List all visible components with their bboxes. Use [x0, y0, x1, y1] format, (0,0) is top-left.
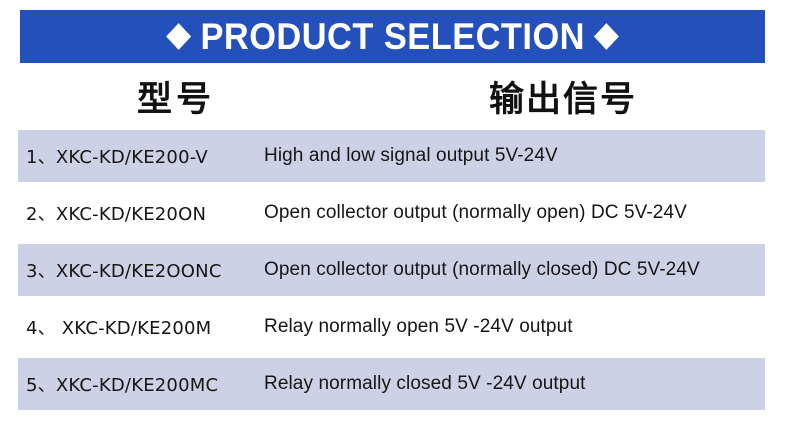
product-selection-page: PRODUCT SELECTION 型号 输出信号 1、XKC-KD/KE200… — [0, 0, 790, 432]
diamond-icon-left — [166, 23, 191, 50]
table-row: 3、XKC-KD/KE2OONC Open collector output (… — [0, 244, 790, 301]
cell-output-signal: Relay normally open 5V -24V output — [264, 301, 573, 353]
column-header-output-signal: 输出信号 — [473, 71, 653, 122]
cell-model: 4、 XKC-KD/KE200M — [26, 301, 211, 353]
cell-model: 3、XKC-KD/KE2OONC — [26, 244, 222, 296]
cell-output-signal: Open collector output (normally open) DC… — [264, 187, 687, 239]
page-header-banner: PRODUCT SELECTION — [20, 10, 765, 63]
cell-output-signal: High and low signal output 5V-24V — [264, 130, 558, 182]
cell-output-signal: Relay normally closed 5V -24V output — [264, 358, 586, 410]
table-row: 2、XKC-KD/KE20ON Open collector output (n… — [0, 187, 790, 244]
product-selection-table: 1、XKC-KD/KE200-V High and low signal out… — [0, 130, 790, 415]
cell-output-signal: Open collector output (normally closed) … — [264, 244, 700, 296]
page-title: PRODUCT SELECTION — [200, 18, 585, 55]
column-header-model: 型号 — [130, 71, 222, 122]
table-row: 4、 XKC-KD/KE200M Relay normally open 5V … — [0, 301, 790, 358]
banner-title-group: PRODUCT SELECTION — [170, 18, 616, 55]
cell-model: 2、XKC-KD/KE20ON — [26, 187, 206, 239]
diamond-icon-right — [594, 23, 619, 50]
cell-model: 5、XKC-KD/KE200MC — [26, 358, 218, 410]
table-row: 1、XKC-KD/KE200-V High and low signal out… — [0, 130, 790, 187]
table-row: 5、XKC-KD/KE200MC Relay normally closed 5… — [0, 358, 790, 415]
cell-model: 1、XKC-KD/KE200-V — [26, 130, 208, 182]
table-column-headers: 型号 输出信号 — [0, 63, 790, 130]
